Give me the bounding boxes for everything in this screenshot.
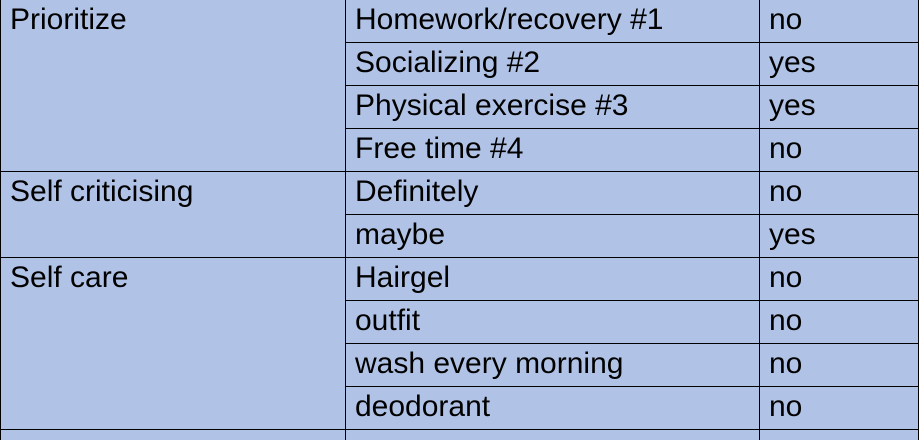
- table-row[interactable]: Self care Hairgel no: [1, 258, 919, 301]
- item-cell[interactable]: Hairgel: [346, 258, 760, 301]
- answer-cell[interactable]: yes: [760, 215, 919, 258]
- answer-cell[interactable]: no: [760, 344, 919, 387]
- answer-cell[interactable]: no: [760, 387, 919, 430]
- answer-cell-empty[interactable]: [760, 430, 919, 440]
- table-row[interactable]: Self criticising Definitely no: [1, 172, 919, 215]
- item-cell[interactable]: Definitely: [346, 172, 760, 215]
- item-cell[interactable]: deodorant: [346, 387, 760, 430]
- item-cell[interactable]: maybe: [346, 215, 760, 258]
- item-cell[interactable]: Socializing #2: [346, 43, 760, 86]
- item-cell[interactable]: Free time #4: [346, 129, 760, 172]
- answer-cell[interactable]: no: [760, 129, 919, 172]
- table-row-clipped[interactable]: [1, 430, 919, 440]
- answer-cell[interactable]: no: [760, 172, 919, 215]
- answer-cell[interactable]: no: [760, 0, 919, 43]
- item-cell-empty[interactable]: [346, 430, 760, 440]
- item-cell[interactable]: Physical exercise #3: [346, 86, 760, 129]
- category-cell-self-care[interactable]: Self care: [1, 258, 346, 430]
- item-cell[interactable]: outfit: [346, 301, 760, 344]
- table-body: Prioritize Homework/recovery #1 no Socia…: [1, 0, 919, 440]
- spreadsheet-canvas: Prioritize Homework/recovery #1 no Socia…: [0, 0, 923, 423]
- category-cell-empty[interactable]: [1, 430, 346, 440]
- answer-cell[interactable]: no: [760, 258, 919, 301]
- item-cell[interactable]: wash every morning: [346, 344, 760, 387]
- table-row[interactable]: Prioritize Homework/recovery #1 no: [1, 0, 919, 43]
- answer-cell[interactable]: yes: [760, 86, 919, 129]
- category-cell-self-criticising[interactable]: Self criticising: [1, 172, 346, 258]
- answer-cell[interactable]: no: [760, 301, 919, 344]
- priorities-table: Prioritize Homework/recovery #1 no Socia…: [0, 0, 919, 440]
- answer-cell[interactable]: yes: [760, 43, 919, 86]
- item-cell[interactable]: Homework/recovery #1: [346, 0, 760, 43]
- category-cell-prioritize[interactable]: Prioritize: [1, 0, 346, 172]
